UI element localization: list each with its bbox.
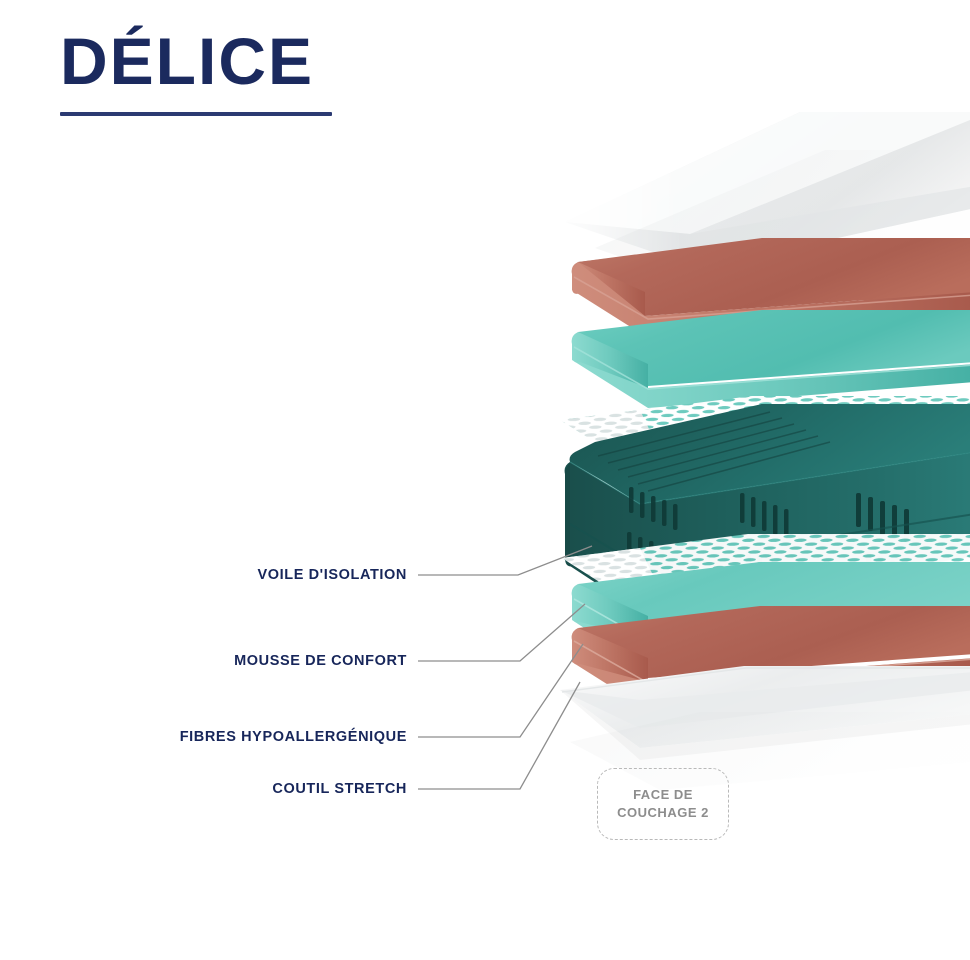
brand-block: DÉLICE bbox=[60, 28, 332, 116]
leader-line-coutil-stretch bbox=[418, 682, 580, 789]
leader-lines bbox=[418, 546, 592, 789]
layer-label-mousse-de-confort: MOUSSE DE CONFORT bbox=[234, 653, 407, 669]
layer-label-voile-disolation: VOILE D'ISOLATION bbox=[257, 567, 407, 583]
leader-line-fibres-hypoallergenique bbox=[418, 644, 583, 737]
layer-label-fibres-hypoallergenique: FIBRES HYPOALLERGÉNIQUE bbox=[180, 729, 407, 745]
layer-label-coutil-stretch: COUTIL STRETCH bbox=[272, 781, 407, 797]
status-badge-face-de-couchage: FACE DE COUCHAGE 2 bbox=[597, 768, 729, 840]
badge-line-1: FACE DE bbox=[633, 786, 693, 804]
leader-line-mousse-de-confort bbox=[418, 604, 585, 661]
badge-line-2: COUCHAGE 2 bbox=[617, 804, 709, 822]
page-title: DÉLICE bbox=[60, 28, 332, 94]
title-underline bbox=[60, 112, 332, 116]
mattress-cutaway-diagram bbox=[0, 0, 970, 960]
